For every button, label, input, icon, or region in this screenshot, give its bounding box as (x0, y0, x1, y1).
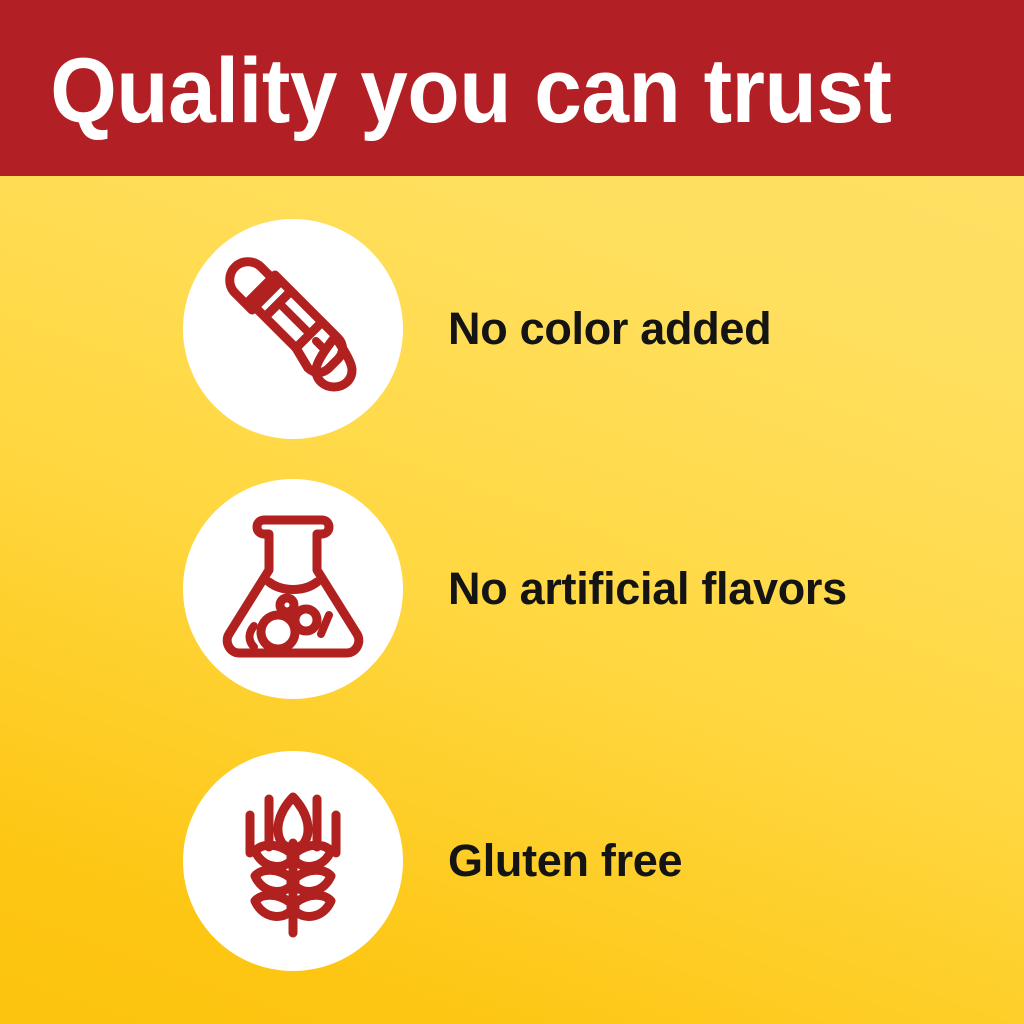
wheat-icon (228, 781, 358, 941)
icon-badge (183, 219, 403, 439)
icon-badge (183, 751, 403, 971)
feature-label: No artificial flavors (448, 564, 847, 614)
icon-badge (183, 479, 403, 699)
feature-row: Gluten free (0, 750, 1024, 972)
page-title: Quality you can trust (0, 45, 891, 137)
dropper-icon (218, 249, 368, 409)
feature-row: No artificial flavors (0, 478, 1024, 700)
feature-label: Gluten free (448, 836, 682, 886)
header-banner: Quality you can trust (0, 0, 1024, 176)
feature-list: No color added (0, 176, 1024, 1024)
flask-icon (220, 510, 366, 668)
feature-label: No color added (448, 304, 771, 354)
promo-graphic: Quality you can trust (0, 0, 1024, 1024)
feature-row: No color added (0, 218, 1024, 440)
